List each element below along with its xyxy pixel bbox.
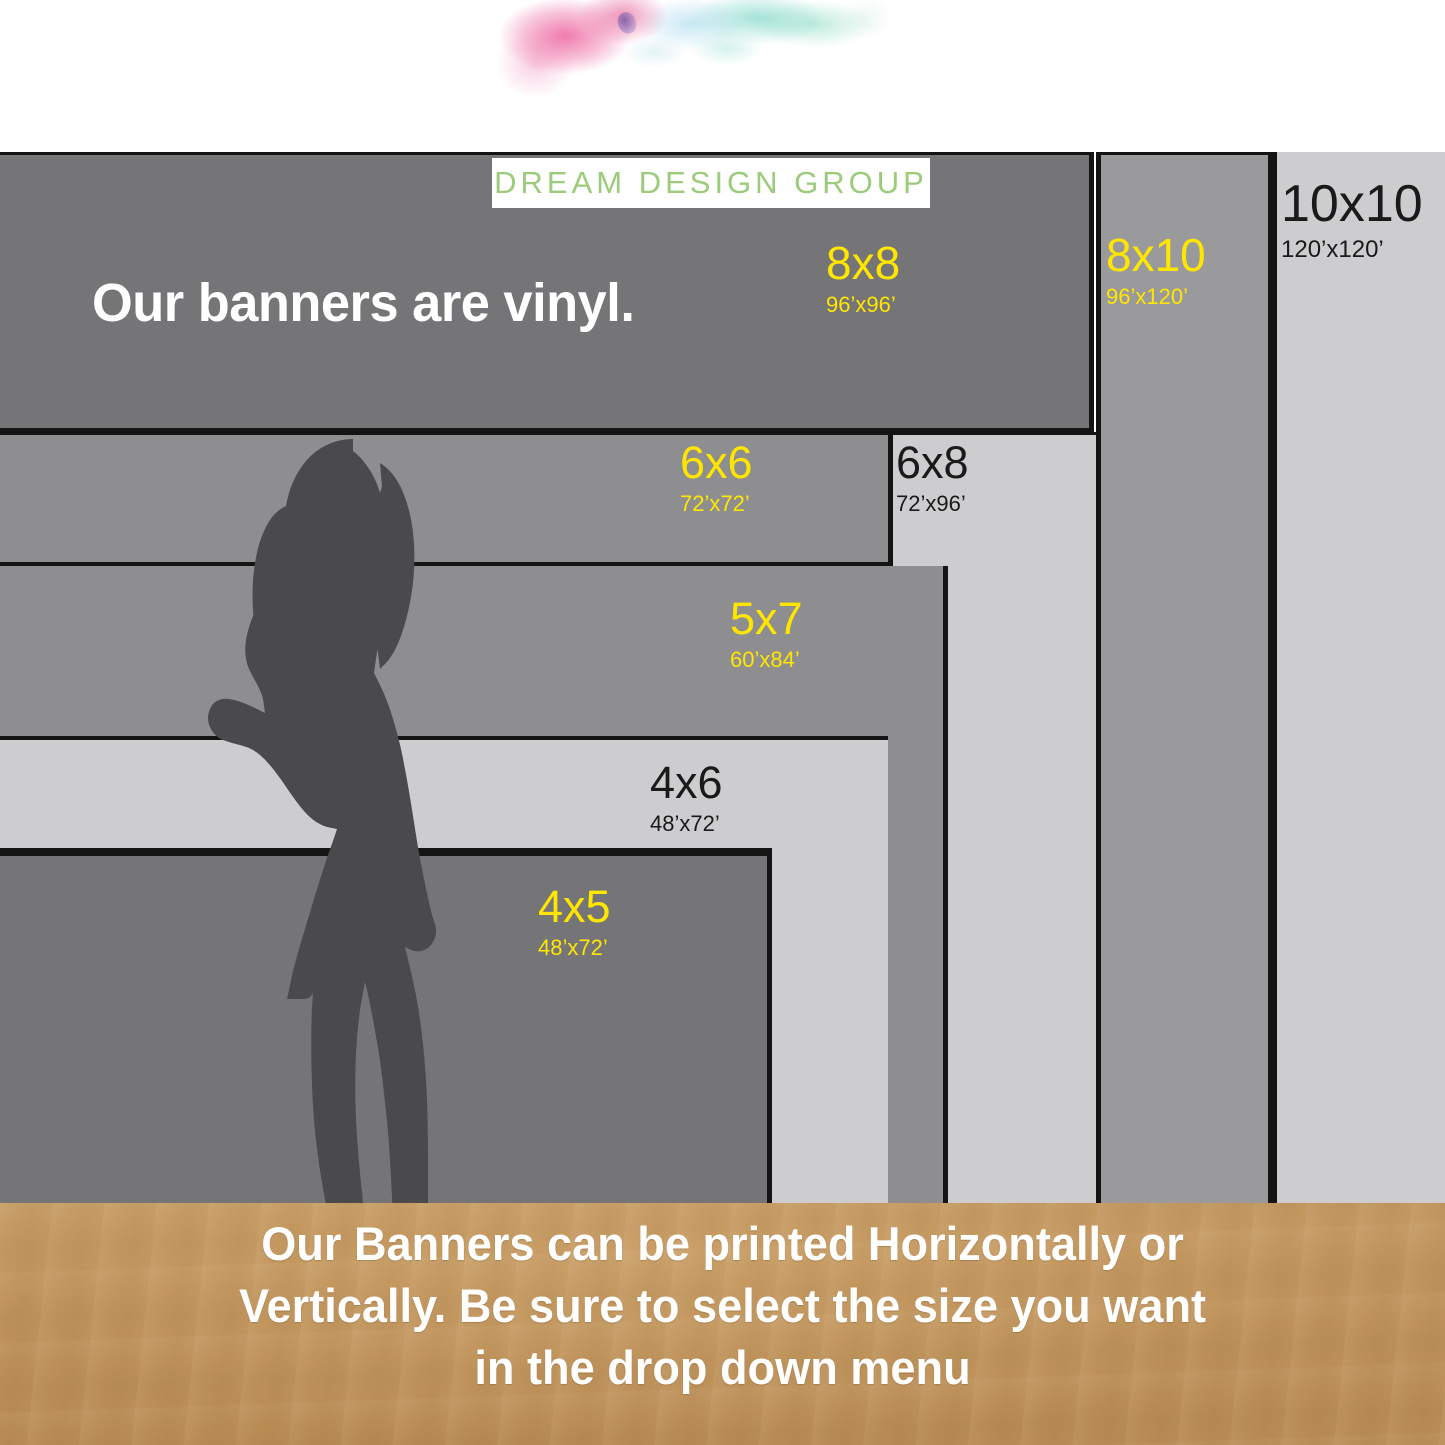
brand-logo-text: DREAM DESIGN GROUP <box>494 165 928 201</box>
size-label-6x6-value: 6x6 <box>680 440 880 485</box>
ink-dot-icon <box>615 10 639 36</box>
footer-line-3: in the drop down menu <box>29 1337 1416 1399</box>
size-label-6x8-value: 6x8 <box>896 440 1096 485</box>
size-label-4x5-value: 4x5 <box>538 884 738 929</box>
size-panel-8x10[interactable] <box>1096 152 1273 1205</box>
footer-message: Our Banners can be printed Horizontally … <box>0 1213 1445 1399</box>
banner-size-chart: 10x10 120’x120’ 8x10 96’x120’ 8x8 96’x96… <box>0 0 1445 1445</box>
footer-floor-band: Our Banners can be printed Horizontally … <box>0 1203 1445 1445</box>
size-panel-5x7-column[interactable] <box>888 566 948 1205</box>
size-label-6x8: 6x8 72’x96’ <box>896 440 1096 515</box>
size-label-10x10-value: 10x10 <box>1281 178 1445 230</box>
watercolor-splash-icon <box>495 0 925 104</box>
size-label-4x5-dims: 48’x72’ <box>538 937 738 959</box>
size-label-8x8: 8x8 96’x96’ <box>826 240 1016 316</box>
size-label-8x8-value: 8x8 <box>826 240 1016 286</box>
size-label-10x10: 10x10 120’x120’ <box>1281 178 1445 262</box>
logo-plate: DREAM DESIGN GROUP <box>492 158 930 208</box>
size-label-8x10: 8x10 96’x120’ <box>1106 232 1276 308</box>
footer-line-1: Our Banners can be printed Horizontally … <box>29 1213 1416 1275</box>
size-label-4x6-dims: 48’x72’ <box>650 813 850 835</box>
size-label-6x8-dims: 72’x96’ <box>896 493 1096 515</box>
size-label-8x10-value: 8x10 <box>1106 232 1276 278</box>
size-label-4x6: 4x6 48’x72’ <box>650 760 850 835</box>
size-panel-10x10[interactable] <box>1273 150 1445 1205</box>
size-label-8x10-dims: 96’x120’ <box>1106 286 1276 308</box>
size-label-4x5: 4x5 48’x72’ <box>538 884 738 959</box>
size-label-6x6-dims: 72’x72’ <box>680 493 880 515</box>
footer-line-2: Vertically. Be sure to select the size y… <box>29 1275 1416 1337</box>
headline-text: Our banners are vinyl. <box>92 272 634 334</box>
size-label-8x8-dims: 96’x96’ <box>826 294 1016 316</box>
size-label-6x6: 6x6 72’x72’ <box>680 440 880 515</box>
size-label-10x10-dims: 120’x120’ <box>1281 238 1445 262</box>
woman-silhouette-icon <box>185 437 505 1212</box>
logo-band <box>0 0 1445 152</box>
size-label-4x6-value: 4x6 <box>650 760 850 805</box>
